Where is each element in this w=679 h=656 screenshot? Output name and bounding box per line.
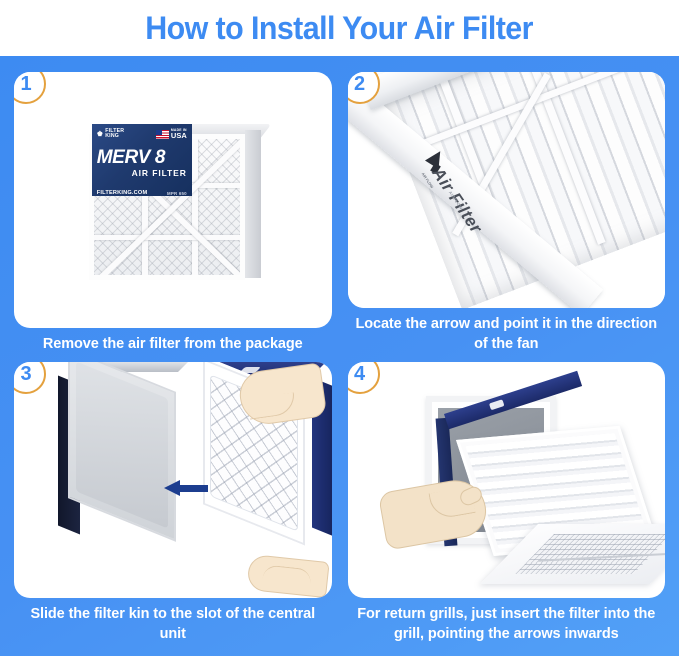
usa-text: MADE IN USA <box>171 129 187 139</box>
brand-text: FILTER KING <box>105 129 124 140</box>
filter-side-depth <box>245 130 261 278</box>
title-band: How to Install Your Air Filter <box>0 0 679 56</box>
mpr-code: MPR 650 <box>167 191 187 196</box>
infographic-root: How to Install Your Air Filter 1 <box>0 0 679 656</box>
crown-icon: ♚ <box>97 131 103 138</box>
filter-king-logo: ♚ FILTER KING <box>97 129 124 140</box>
hand-lower <box>246 554 329 598</box>
step-2: 2 AIR FLOW Air Filter AIRF <box>348 72 666 356</box>
step-1-illustration: ♚ FILTER KING MADE IN <box>14 72 332 328</box>
filter-horizontal-brace <box>94 235 240 240</box>
filter-vertical-brace <box>192 139 198 275</box>
step-1: 1 <box>14 72 332 356</box>
step-3-caption: Slide the filter kin to the slot of the … <box>14 598 332 646</box>
page-title: How to Install Your Air Filter <box>146 10 534 47</box>
step-4-card: 4 <box>348 362 666 598</box>
step-3: 3 <box>14 362 332 646</box>
step-4: 4 For return grills, just inse <box>348 362 666 646</box>
step-1-card: 1 <box>14 72 332 328</box>
step-2-caption: Locate the arrow and point it in the dir… <box>348 308 666 356</box>
step-3-card: 3 <box>14 362 332 598</box>
product-type: AIR FILTER <box>97 168 187 178</box>
us-flag-icon <box>156 130 169 139</box>
boxed-filter-photo: ♚ FILTER KING MADE IN <box>83 120 263 280</box>
merv-rating: MERV 8 <box>97 147 187 169</box>
brand-line-2: KING <box>105 133 119 139</box>
arrow-shaft <box>180 485 208 492</box>
step-3-illustration <box>14 362 332 598</box>
country-text: USA <box>171 131 187 140</box>
filter-product-label: ♚ FILTER KING MADE IN <box>92 124 192 196</box>
arrow-head <box>164 480 180 496</box>
steps-grid: 1 <box>0 56 679 656</box>
website-text: FILTERKING.COM <box>97 190 148 196</box>
step-4-illustration <box>348 362 666 598</box>
label-top-row: ♚ FILTER KING MADE IN <box>97 128 187 141</box>
slide-direction-arrow-icon <box>164 480 208 496</box>
step-1-caption: Remove the air filter from the package <box>14 328 332 356</box>
filter-corner-photo: AIR FLOW Air Filter AIRFLOW <box>348 72 666 308</box>
step-2-illustration: AIR FLOW Air Filter AIRFLOW <box>348 72 666 308</box>
step-4-caption: For return grills, just insert the filte… <box>348 598 666 646</box>
step-2-card: 2 AIR FLOW Air Filter AIRF <box>348 72 666 308</box>
label-bottom-row: FILTERKING.COM MPR 650 <box>97 190 187 196</box>
made-in-usa-badge: MADE IN USA <box>156 129 187 139</box>
